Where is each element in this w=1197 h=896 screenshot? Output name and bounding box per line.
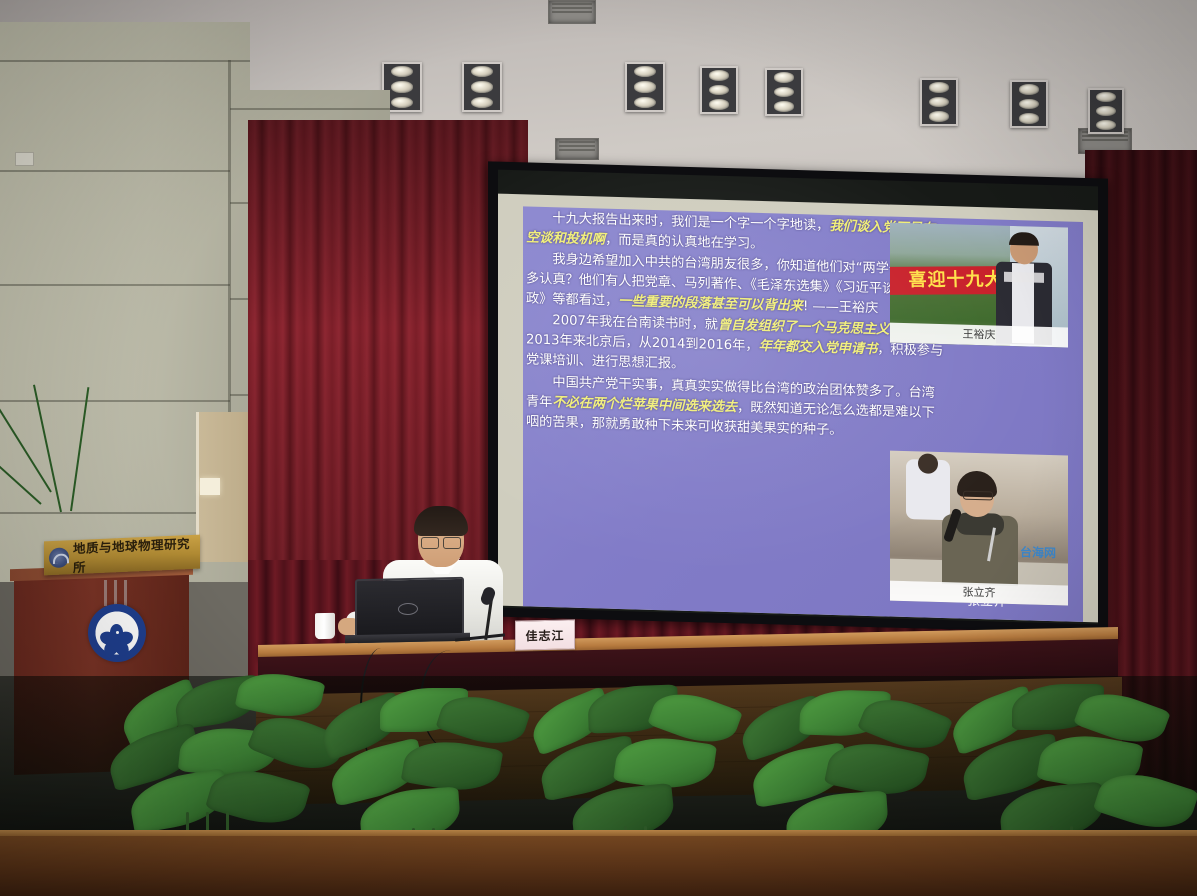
ceiling-light-icon xyxy=(1010,80,1048,128)
photo-watermark: 台海网 xyxy=(1020,543,1056,561)
podium-sign: 地质与地球物理研究所 xyxy=(44,535,200,576)
slide-paragraph: 我身边希望加入中共的台湾朋友很多，你知道他们对“两学一做”有多认真？他们有人把党… xyxy=(526,250,946,322)
door-light-icon xyxy=(200,478,220,495)
lecture-hall-photo: 十九大报告出来时，我们是一个字一个字地读，我们谈入党不是在空谈和投机啊，而是真的… xyxy=(0,0,1197,896)
speaker-glasses-icon xyxy=(421,537,461,547)
slide-text-run: ，而是真的认真地在学习。 xyxy=(605,233,763,252)
paper-cup xyxy=(315,613,335,639)
slide-body-text: 十九大报告出来时，我们是一个字一个字地读，我们谈入党不是在空谈和投机啊，而是真的… xyxy=(526,208,946,618)
slide-paragraph: 中国共产党干实事，真真实实做得比台湾的政治团体赞多了。台湾青年不必在两个烂苹果中… xyxy=(526,372,946,444)
emblem-stripe xyxy=(124,580,127,606)
speaker-hair xyxy=(414,506,468,536)
slide-paragraph: 2007年我在台南读书时，就曾自发组织了一个马克思主义读书会。2013年来北京后… xyxy=(526,311,946,383)
presentation-slide: 十九大报告出来时，我们是一个字一个字地读，我们谈入党不是在空谈和投机啊，而是真的… xyxy=(498,194,1098,623)
wall-switch-plate xyxy=(15,152,34,166)
slide-text-run: ! ——王裕庆 xyxy=(803,299,878,316)
stage-floor xyxy=(0,836,1197,896)
ceiling-light-icon xyxy=(1088,88,1124,134)
ceiling-light-icon xyxy=(625,62,665,112)
podium-sign-text: 地质与地球物理研究所 xyxy=(73,533,200,577)
projection-screen: 十九大报告出来时，我们是一个字一个字地读，我们谈入党不是在空谈和投机啊，而是真的… xyxy=(498,170,1098,625)
ceiling-light-icon xyxy=(462,62,502,112)
photo-subject-glasses xyxy=(963,491,993,501)
desk-nameplate: 佳志江 xyxy=(515,619,575,650)
emblem-stripe xyxy=(104,580,107,606)
cas-emblem-center xyxy=(114,629,121,636)
institute-logo-icon xyxy=(49,547,69,568)
ceiling-light-icon xyxy=(920,78,958,126)
slide-photo-zhang: 台海网 张立齐 xyxy=(890,451,1068,606)
slide-text-highlight: 年年都交入党申请书 xyxy=(759,339,878,357)
ceiling-vent-icon xyxy=(555,138,599,160)
ceiling-vent-icon xyxy=(548,0,596,24)
nameplate-text: 佳志江 xyxy=(525,626,564,644)
ceiling-light-icon xyxy=(765,68,803,116)
slide-text-run: 2007年我在台南读书时，就 xyxy=(552,313,717,333)
slide-text-highlight: 一些重要的段落甚至可以背出来 xyxy=(618,294,803,314)
ceiling-light-icon xyxy=(700,66,738,114)
photo-background-person-head xyxy=(918,453,938,474)
slide-text-highlight: 不必在两个烂苹果中间选来选去 xyxy=(552,395,737,415)
emblem-stripe xyxy=(114,580,117,606)
slide-photo-wang: 喜迎十九大 王裕庆 xyxy=(890,223,1068,348)
